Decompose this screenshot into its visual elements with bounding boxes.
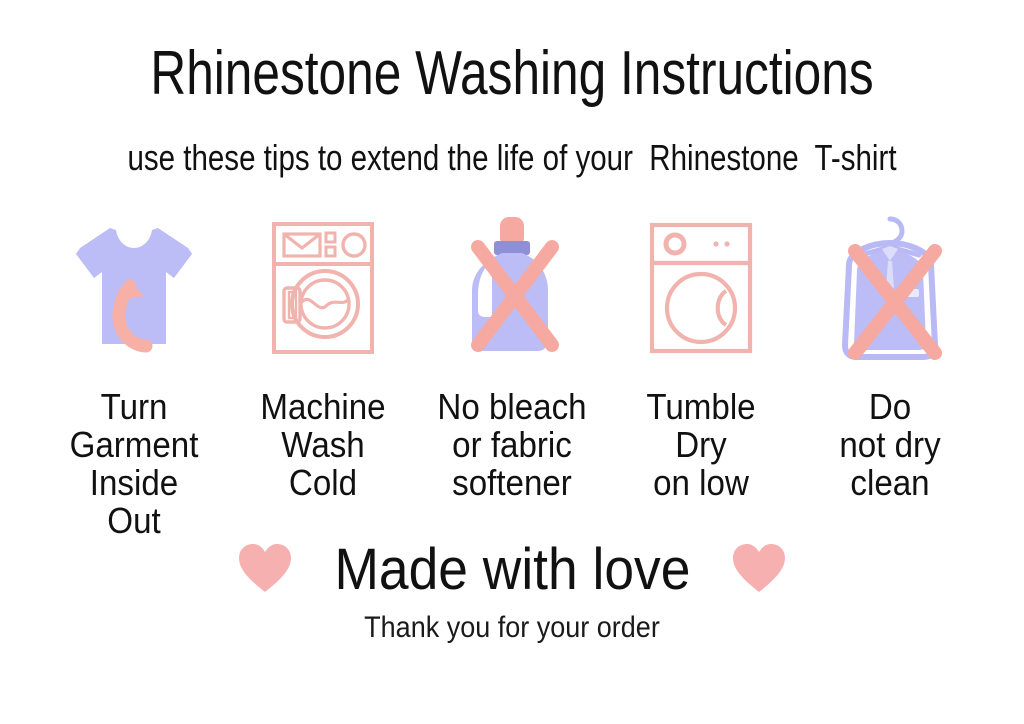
instruction-icon-cell [229,212,417,364]
instruction-icon-cell [607,212,795,364]
heart-icon [237,542,293,599]
made-with-love-text: Made with love [334,538,690,602]
instruction-icon-cell [418,212,606,364]
made-with-love-row: Made with love [0,538,1024,602]
instruction-icon-cell [40,212,228,364]
thank-you-text: Thank you for your order [51,608,973,648]
washing-instructions-card: Rhinestone Washing Instructions use thes… [0,0,1024,724]
instruction-label-turn-garment-inside-out: Turn Garment Inside Out [48,388,221,540]
instruction-label-machine-wash-cold: Machine Wash Cold [237,388,410,502]
instruction-label-row: Turn Garment Inside Out Machine Wash Col… [40,388,984,540]
instruction-label-do-not-dry-clean: Do not dry clean [804,388,977,502]
no-dry-clean-icon [827,213,953,363]
instruction-label-tumble-dry-low: Tumble Dry on low [615,388,788,502]
page-subtitle: use these tips to extend the life of you… [92,135,932,181]
instruction-label-no-bleach: No bleach or fabric softener [426,388,599,502]
instruction-icon-row [40,212,984,364]
heart-icon [731,542,787,599]
page-title: Rhinestone Washing Instructions [102,38,921,110]
washing-machine-icon [270,220,376,356]
tshirt-inside-out-icon [72,220,196,356]
tumble-dryer-icon [648,221,754,355]
instruction-icon-cell [796,212,984,364]
no-bleach-bottle-icon [452,213,572,363]
